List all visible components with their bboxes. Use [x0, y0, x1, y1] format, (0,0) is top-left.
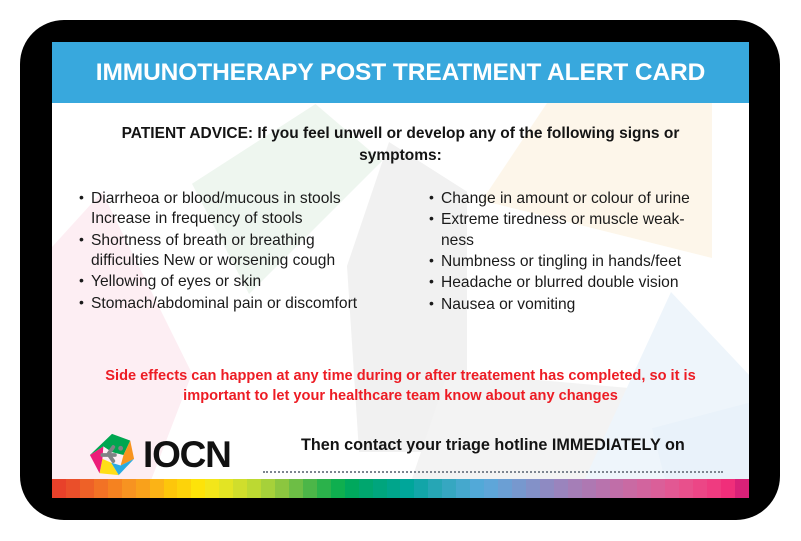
strip-segment	[80, 479, 94, 498]
hotline-section: Then contact your triage hotline IMMEDIA…	[231, 427, 723, 473]
strip-segment	[136, 479, 150, 498]
strip-segment	[610, 479, 624, 498]
strip-segment	[679, 479, 693, 498]
hotline-instruction: Then contact your triage hotline IMMEDIA…	[263, 436, 723, 455]
screenshot-canvas: IMMUNOTHERAPY POST TREATMENT ALERT CARD …	[0, 0, 801, 541]
strip-segment	[177, 479, 191, 498]
iocn-wordmark: IOCN	[143, 436, 231, 473]
iocn-pinwheel-icon	[88, 431, 136, 479]
strip-segment	[428, 479, 442, 498]
strip-segment	[540, 479, 554, 498]
list-item: Yellowing of eyes or skin	[78, 272, 412, 292]
alert-card: IMMUNOTHERAPY POST TREATMENT ALERT CARD …	[52, 42, 749, 498]
strip-segment	[400, 479, 414, 498]
strip-segment	[554, 479, 568, 498]
strip-segment	[94, 479, 108, 498]
strip-segment	[52, 479, 66, 498]
strip-segment	[247, 479, 261, 498]
strip-segment	[122, 479, 136, 498]
rainbow-color-strip	[52, 479, 749, 498]
symptoms-column-left: Diarrheoa or blood/mucous in stools Incr…	[78, 189, 412, 316]
strip-segment	[456, 479, 470, 498]
list-item: Numbness or tingling in hands/feet	[428, 252, 726, 272]
list-item: Nausea or vomiting	[428, 295, 726, 315]
strip-segment	[275, 479, 289, 498]
strip-segment	[665, 479, 679, 498]
strip-segment	[191, 479, 205, 498]
card-header: IMMUNOTHERAPY POST TREATMENT ALERT CARD	[52, 42, 749, 103]
strip-segment	[66, 479, 80, 498]
strip-segment	[512, 479, 526, 498]
iocn-logo: IOCN	[88, 427, 231, 479]
strip-segment	[317, 479, 331, 498]
strip-segment	[387, 479, 401, 498]
strip-segment	[721, 479, 735, 498]
list-item: Change in amount or colour of urine	[428, 189, 726, 209]
strip-segment	[526, 479, 540, 498]
strip-segment	[651, 479, 665, 498]
strip-segment	[289, 479, 303, 498]
strip-segment	[693, 479, 707, 498]
hotline-number-input[interactable]	[263, 471, 723, 473]
list-item: Extreme tiredness or muscle weak- ness	[428, 210, 726, 251]
strip-segment	[498, 479, 512, 498]
strip-segment	[164, 479, 178, 498]
strip-segment	[707, 479, 721, 498]
strip-segment	[470, 479, 484, 498]
strip-segment	[205, 479, 219, 498]
strip-segment	[596, 479, 610, 498]
symptom-list-left: Diarrheoa or blood/mucous in stools Incr…	[78, 189, 412, 314]
strip-segment	[219, 479, 233, 498]
strip-segment	[582, 479, 596, 498]
card-body: PATIENT ADVICE: If you feel unwell or de…	[52, 103, 749, 479]
list-item: Diarrheoa or blood/mucous in stools Incr…	[78, 189, 412, 230]
list-item: Stomach/abdominal pain or discomfort	[78, 294, 412, 314]
symptoms-column-right: Change in amount or colour of urine Extr…	[412, 189, 726, 316]
card-footer: IOCN Then contact your triage hotline IM…	[52, 427, 749, 479]
strip-segment	[623, 479, 637, 498]
strip-segment	[484, 479, 498, 498]
strip-segment	[108, 479, 122, 498]
patient-advice-text: PATIENT ADVICE: If you feel unwell or de…	[101, 123, 701, 167]
list-item: Shortness of breath or breathing difficu…	[78, 231, 412, 272]
strip-segment	[373, 479, 387, 498]
page-title: IMMUNOTHERAPY POST TREATMENT ALERT CARD	[96, 59, 706, 87]
list-item: Headache or blurred double vision	[428, 273, 726, 293]
strip-segment	[150, 479, 164, 498]
strip-segment	[637, 479, 651, 498]
strip-segment	[359, 479, 373, 498]
strip-segment	[735, 479, 749, 498]
strip-segment	[233, 479, 247, 498]
strip-segment	[414, 479, 428, 498]
side-effects-warning: Side effects can happen at any time duri…	[77, 366, 725, 407]
strip-segment	[568, 479, 582, 498]
strip-segment	[442, 479, 456, 498]
symptom-list-right: Change in amount or colour of urine Extr…	[428, 189, 726, 315]
strip-segment	[303, 479, 317, 498]
strip-segment	[345, 479, 359, 498]
strip-segment	[331, 479, 345, 498]
strip-segment	[261, 479, 275, 498]
symptoms-columns: Diarrheoa or blood/mucous in stools Incr…	[52, 189, 749, 316]
